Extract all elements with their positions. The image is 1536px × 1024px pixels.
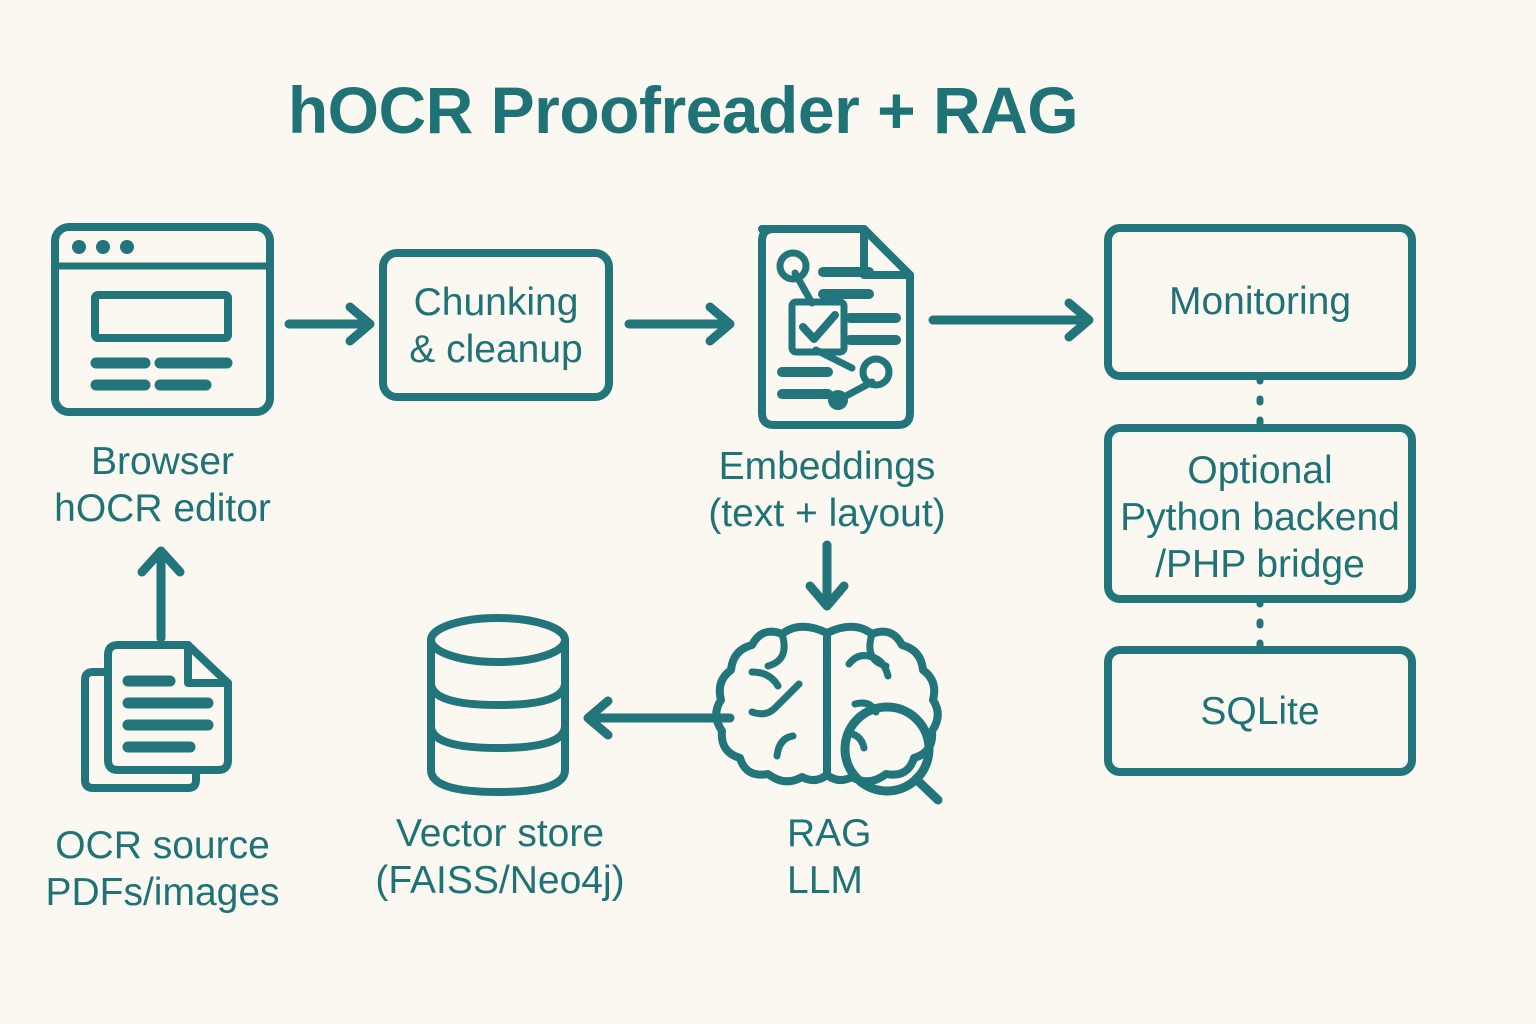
document-network-check-icon — [762, 229, 910, 425]
optional-backend-label: Optional Python backend /PHP bridge — [1108, 447, 1412, 588]
ocr-source-label: OCR source PDFs/images — [15, 822, 310, 916]
monitoring-label: Monitoring — [1108, 278, 1412, 325]
vector-store-label-line1: Vector store — [355, 810, 645, 857]
rag-llm-label-line2: LLM — [787, 857, 1007, 904]
diagram-canvas: hOCR Proofreader + RAG — [0, 0, 1536, 1024]
browser-editor-label-line2: hOCR editor — [15, 485, 310, 532]
stacked-documents-icon — [85, 645, 228, 788]
embeddings-label: Embeddings (text + layout) — [686, 443, 968, 537]
ocr-source-label-line1: OCR source — [15, 822, 310, 869]
vector-store-label: Vector store (FAISS/Neo4j) — [355, 810, 645, 904]
chunking-label-line2: & cleanup — [383, 326, 609, 373]
chunking-label: Chunking & cleanup — [383, 279, 609, 373]
sqlite-label: SQLite — [1108, 688, 1412, 735]
browser-editor-label-line1: Browser — [15, 438, 310, 485]
embeddings-to-monitoring-arrow — [933, 303, 1089, 337]
monitoring-label-line1: Monitoring — [1108, 278, 1412, 325]
brain-magnifier-icon — [716, 627, 938, 800]
sqlite-label-line1: SQLite — [1108, 688, 1412, 735]
optional-backend-label-line2: Python backend — [1108, 494, 1412, 541]
ocr-source-to-browser-editor-arrow — [142, 551, 180, 638]
browser-editor-to-chunking-arrow — [289, 307, 370, 341]
embeddings-label-line1: Embeddings — [686, 443, 968, 490]
optional-backend-label-line3: /PHP bridge — [1108, 541, 1412, 588]
browser-window-icon — [55, 227, 270, 412]
rag-llm-label: RAG LLM — [787, 810, 1007, 904]
embeddings-to-rag-llm-arrow — [810, 545, 844, 606]
chunking-to-embeddings-arrow — [629, 307, 730, 341]
embeddings-label-line2: (text + layout) — [686, 490, 968, 537]
chunking-label-line1: Chunking — [383, 279, 609, 326]
ocr-source-label-line2: PDFs/images — [15, 869, 310, 916]
browser-editor-label: Browser hOCR editor — [15, 438, 310, 532]
rag-llm-to-vector-store-arrow — [588, 701, 730, 735]
vector-store-label-line2: (FAISS/Neo4j) — [355, 857, 645, 904]
database-cylinder-icon — [431, 618, 565, 792]
rag-llm-label-line1: RAG — [787, 810, 1007, 857]
optional-backend-label-line1: Optional — [1108, 447, 1412, 494]
